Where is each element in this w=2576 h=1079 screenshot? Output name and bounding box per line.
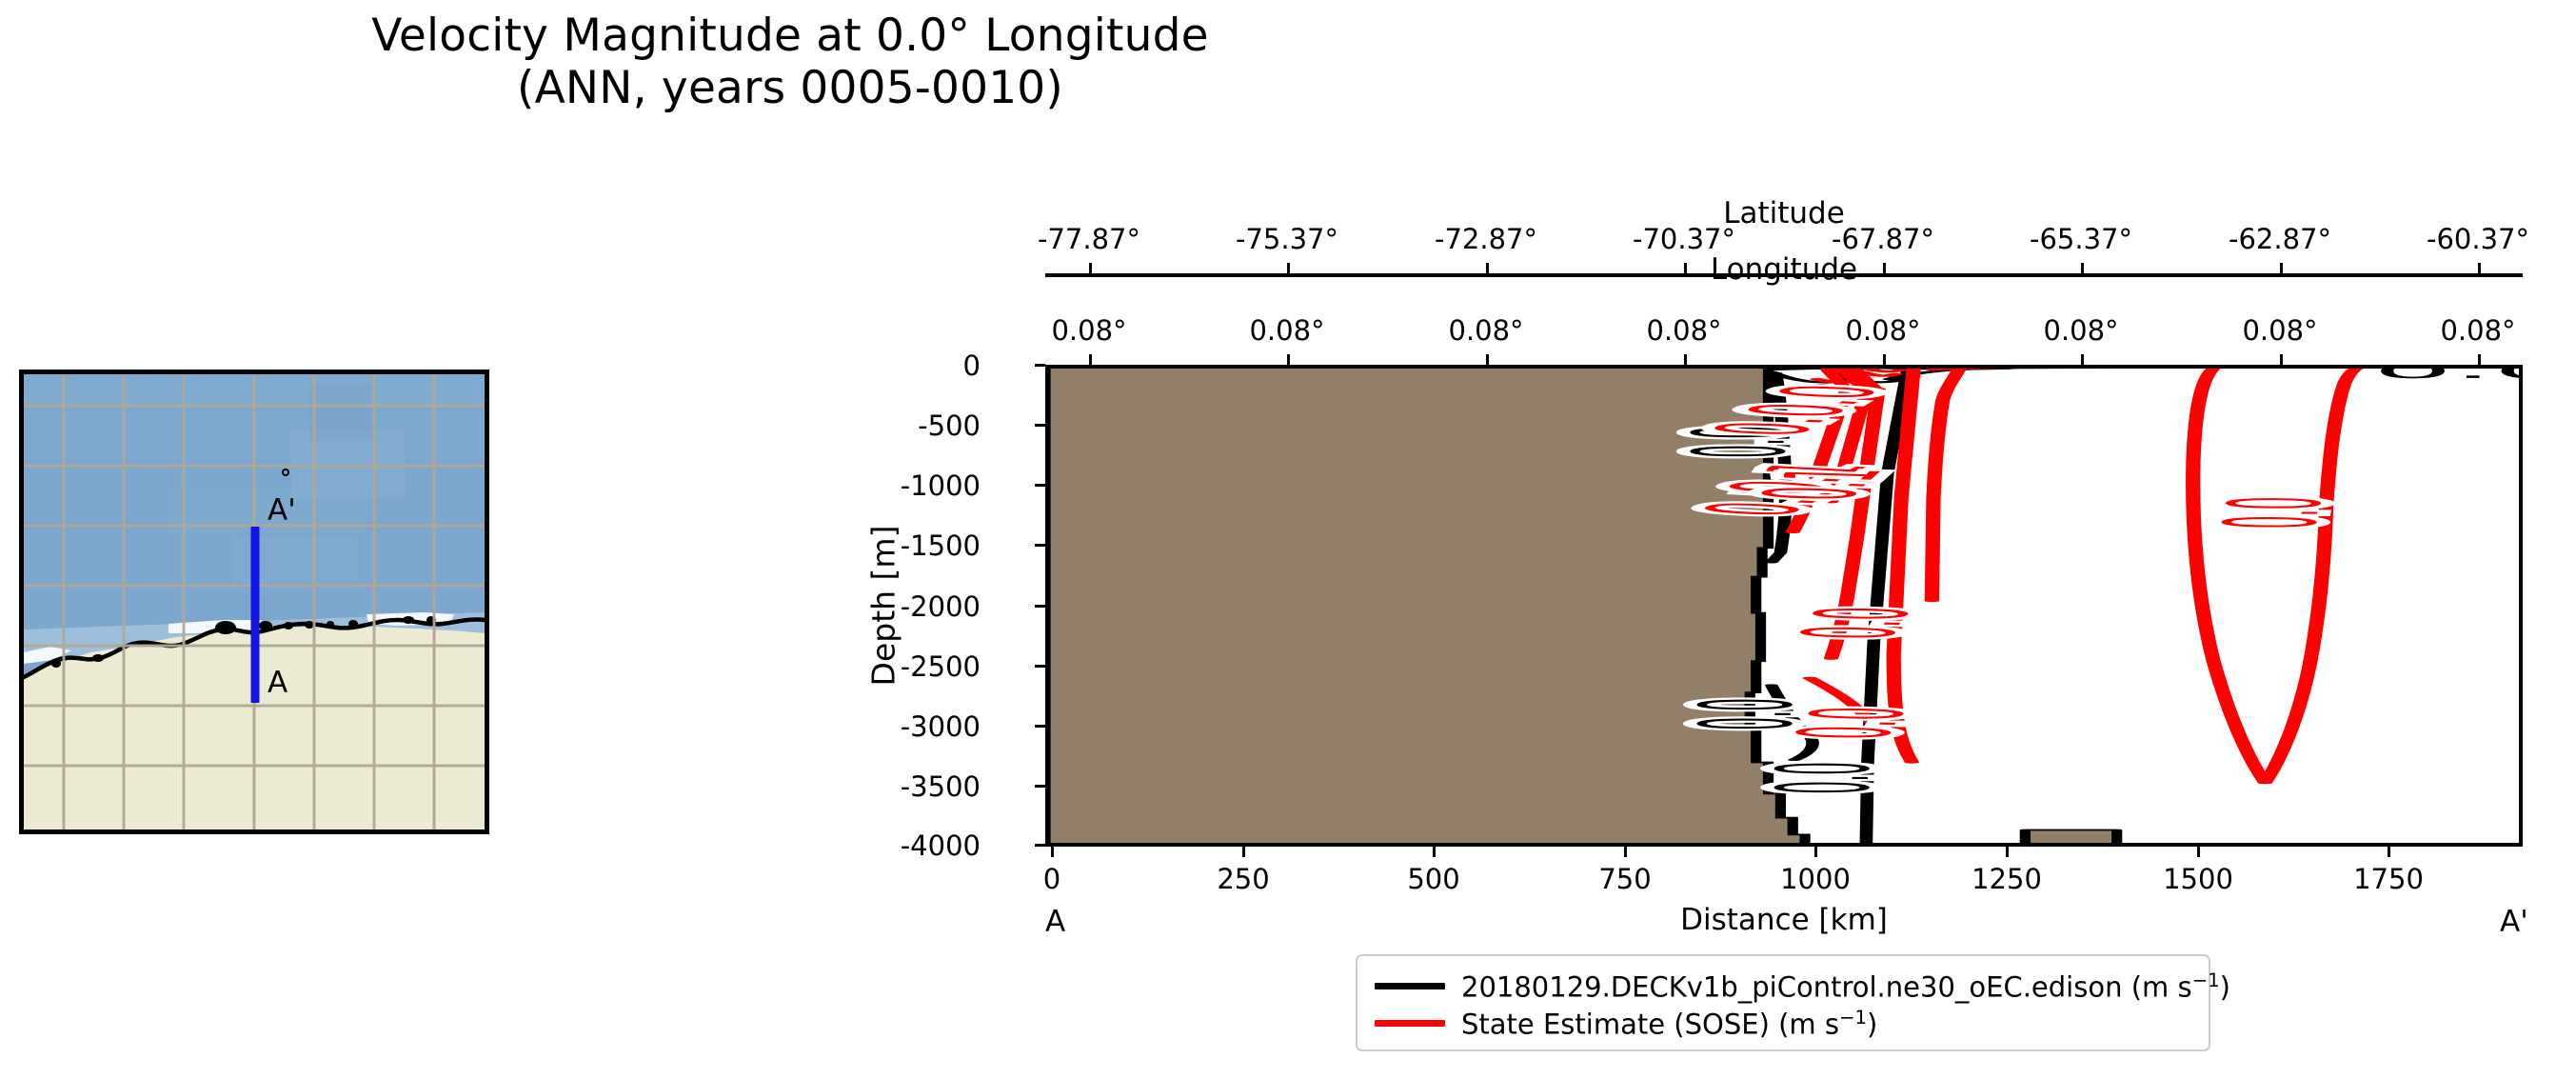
latitude-tick-label: -60.37° [2427,223,2529,255]
distance-tick [1242,847,1245,857]
longitude-tick [2081,263,2084,273]
contour-label: 0.0 [2198,496,2351,529]
legend[interactable]: 20180129.DECKv1b_piControl.ne30_oEC.edis… [1356,954,2210,1051]
transect-end-endpoint: A' [2500,905,2528,939]
sose-contour-outer-right [1932,369,1959,601]
axes-spine-top [1045,365,2523,369]
latitude-tick [1486,354,1489,365]
depth-tick-label: -500 [918,410,981,442]
distance-tick [1624,847,1627,857]
transect-start-endpoint: A [1045,905,1065,939]
latitude-tick [1287,354,1290,365]
cross-section-plot[interactable]: 0.0 0.0 0.0 0.0 [1045,365,2523,847]
locator-map-canvas [24,374,485,829]
distance-tick [1814,847,1817,857]
distance-tick-label: 1750 [2353,863,2424,895]
latitude-tick-label: -77.87° [1038,223,1140,255]
depth-tick [1035,785,1045,788]
longitude-axis-title: Longitude [1711,252,1857,287]
longitude-tick [1486,263,1489,273]
distance-axis-title: Distance [km] [1680,903,1888,937]
figure-title: Velocity Magnitude at 0.0° Longitude (AN… [0,10,1580,115]
depth-tick [1035,424,1045,427]
longitude-tick [1089,263,1092,273]
depth-tick-label: -3000 [901,710,981,743]
distance-tick-label: 1500 [2163,863,2233,895]
longitude-tick [2280,263,2283,273]
legend-item-model[interactable]: 20180129.DECKv1b_piControl.ne30_oEC.edis… [1375,968,2191,1005]
depth-tick-label: -3500 [901,770,981,803]
legend-label-observations: State Estimate (SOSE) (m s−1) [1461,1007,1877,1041]
longitude-tick-label: 0.08° [2043,314,2118,347]
depth-tick-label: -2500 [901,650,981,683]
longitude-tick [1883,263,1886,273]
latitude-tick-label: -70.37° [1633,223,1735,255]
depth-tick-label: -4000 [901,829,981,862]
legend-swatch-observations [1375,1020,1445,1027]
latitude-tick [1684,354,1687,365]
longitude-tick-label: 0.08° [2242,314,2317,347]
latitude-tick-label: -75.37° [1236,223,1338,255]
latitude-tick-label: -67.87° [1832,223,1934,255]
distance-tick [2388,847,2390,857]
axes-spine-right [2519,365,2523,847]
transect-end-label: A' [268,493,296,528]
longitude-tick-label: 0.08° [1249,314,1324,347]
contour-label: 0.0 [1752,762,1898,793]
latitude-tick [2081,354,2084,365]
depth-tick [1035,364,1045,367]
depth-tick-label: 0 [963,350,981,382]
sose-contour-open-ocean-right [2265,505,2326,783]
contour-label: 0.0 [1774,606,1941,640]
distance-tick-label: 750 [1598,863,1651,895]
depth-tick [1035,605,1045,608]
latitude-tick [1883,354,1886,365]
latitude-tick-label: -72.87° [1435,223,1537,255]
distance-tick-label: 0 [1043,863,1060,895]
contour-label: 0.0 [1770,706,1936,740]
distance-tick-label: 500 [1407,863,1459,895]
longitude-tick-label: 0.08° [1646,314,1721,347]
legend-swatch-model [1375,983,1445,989]
transect-start-label: A [268,666,287,700]
legend-exponent-model: −1 [2192,969,2220,991]
depth-axis-title: Depth [m] [865,526,902,687]
latitude-tick [2478,354,2481,365]
longitude-tick [1684,263,1687,273]
depth-tick [1035,544,1045,547]
distance-tick-label: 1250 [1972,863,2042,895]
distance-tick-label: 1000 [1780,863,1851,895]
distance-tick-label: 250 [1217,863,1269,895]
sose-contour-cluster [1868,369,1900,371]
longitude-tick-label: 0.08° [1051,314,1126,347]
sose-contour-open-ocean-left [2193,369,2266,783]
longitude-tick-label: 0.08° [1845,314,1920,347]
depth-tick-label: -1500 [901,530,981,562]
depth-tick [1035,844,1045,847]
depth-tick [1035,484,1045,487]
legend-suffix-observations: ) [1867,1008,1877,1040]
longitude-tick [2478,263,2481,273]
depth-tick-label: -1000 [901,470,981,502]
depth-tick [1035,725,1045,728]
latitude-tick [2280,354,2283,365]
depth-tick-label: -2000 [901,590,981,623]
sose-contour-open-ocean-right-top [2327,369,2357,505]
depth-tick [1035,665,1045,668]
distance-tick [2197,847,2200,857]
distance-tick [2006,847,2009,857]
latitude-axis-title: Latitude [1723,196,1845,230]
contour-canvas: 0.0 0.0 0.0 0.0 [1045,365,2523,847]
latitude-tick-label: -65.37° [2030,223,2132,255]
axes-spine-bottom [1045,843,2523,847]
legend-exponent-observations: −1 [1839,1007,1867,1029]
longitude-tick-label: 0.08° [2440,314,2515,347]
axes-spine-left [1045,365,1049,847]
legend-label-model: 20180129.DECKv1b_piControl.ne30_oEC.edis… [1461,969,2230,1004]
latitude-tick-label: -62.87° [2229,223,2331,255]
longitude-tick-label: 0.08° [1448,314,1523,347]
locator-map[interactable]: A' A [19,370,489,834]
longitude-tick [1287,263,1290,273]
distance-tick [1051,847,1054,857]
distance-tick [1433,847,1436,857]
legend-item-observations[interactable]: State Estimate (SOSE) (m s−1) [1375,1005,2191,1042]
legend-suffix-model: ) [2220,970,2230,1003]
latitude-tick [1089,354,1092,365]
